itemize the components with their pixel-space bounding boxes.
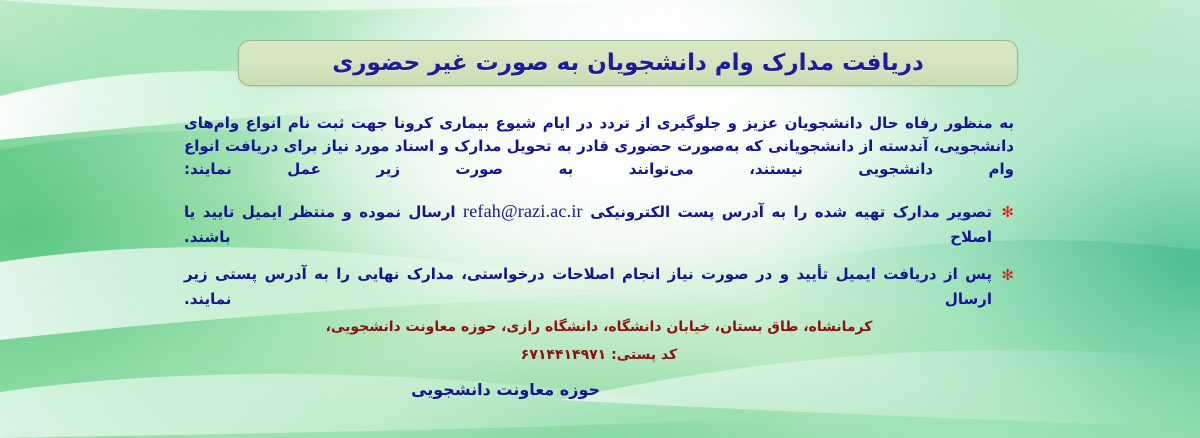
postal-address-block: کرمانشاه، طاق بستان، خیابان دانشگاه، دان… xyxy=(184,314,1014,368)
footer-signature: حوزه معاونت دانشجویی xyxy=(411,380,600,399)
intro-paragraph: به منظور رفاه حال دانشجویان عزیز و جلوگی… xyxy=(184,112,1014,181)
address-line: کرمانشاه، طاق بستان، خیابان دانشگاه، دان… xyxy=(184,314,1014,340)
step-text: پس از دریافت ایمیل تأیید و در صورت نیاز … xyxy=(184,265,992,308)
page-title: دریافت مدارک وام دانشجویان به صورت غیر ح… xyxy=(332,50,924,76)
announcement-poster: دریافت مدارک وام دانشجویان به صورت غیر ح… xyxy=(0,0,1200,438)
asterisk-bullet-icon: ✻ xyxy=(1001,263,1014,288)
list-item: ✻ تصویر مدارک تهیه شده را به آدرس پست ال… xyxy=(184,199,1014,250)
list-item: ✻ پس از دریافت ایمیل تأیید و در صورت نیا… xyxy=(184,262,1014,312)
asterisk-bullet-icon: ✻ xyxy=(1001,200,1014,225)
step-text-before-email: تصویر مدارک تهیه شده را به آدرس پست الکت… xyxy=(590,203,992,221)
postal-code-line: کد پستی: ۶۷۱۴۴۱۴۹۷۱ xyxy=(184,342,1014,368)
announcement-body: به منظور رفاه حال دانشجویان عزیز و جلوگی… xyxy=(184,112,1014,324)
title-banner: دریافت مدارک وام دانشجویان به صورت غیر ح… xyxy=(238,40,1018,86)
steps-list: ✻ تصویر مدارک تهیه شده را به آدرس پست ال… xyxy=(184,199,1014,312)
email-address-link[interactable]: refah@razi.ac.ir xyxy=(463,201,583,221)
